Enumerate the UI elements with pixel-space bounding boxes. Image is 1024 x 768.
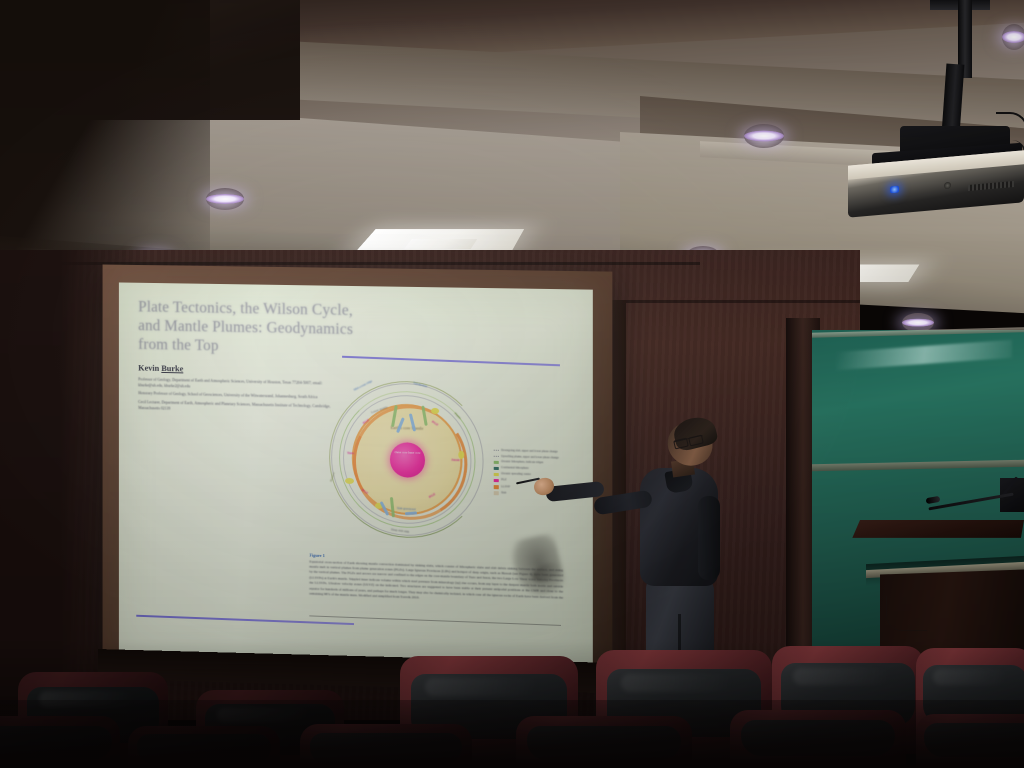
lecture-hall-scene: Plate Tectonics, the Wilson Cycle, and M…: [0, 0, 1024, 768]
foreground-darkening: [0, 700, 1024, 768]
